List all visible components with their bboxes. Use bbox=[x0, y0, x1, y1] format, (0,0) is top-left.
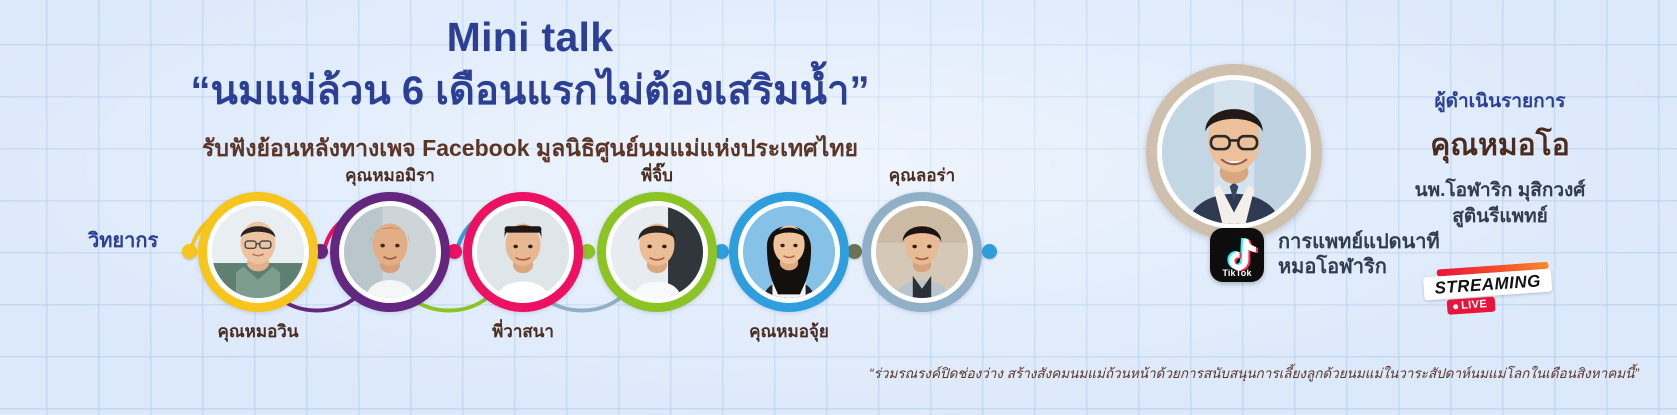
speaker-label: คุณลอร่า bbox=[807, 162, 1037, 189]
tiktok-icon[interactable]: TikTok bbox=[1210, 228, 1264, 282]
footer-note: “ร่วมรณรงค์ปิดช่องว่าง สร้างสังคมนมแม่ถ้… bbox=[836, 362, 1672, 384]
headline-block: Mini talk “นมแม่ล้วน 6 เดือนแรกไม่ต้องเส… bbox=[0, 14, 1060, 167]
speaker-card[interactable]: คุณลอร่า bbox=[862, 192, 982, 312]
topic-title: “นมแม่ล้วน 6 เดือนแรกไม่ต้องเสริมน้ำ” bbox=[0, 67, 1060, 115]
speaker-card[interactable]: คุณหมอวิน bbox=[198, 192, 318, 312]
host-avatar-ring bbox=[1146, 64, 1322, 240]
speaker-label: พี่วาสนา bbox=[408, 318, 638, 345]
channel-name-line-2: หมอโอฬาริก bbox=[1278, 255, 1440, 280]
speaker-card[interactable]: คุณหมอมิรา bbox=[330, 192, 450, 312]
host-name: คุณหมอโอ bbox=[1340, 122, 1660, 169]
connector-dot bbox=[847, 244, 862, 259]
host-avatar bbox=[1162, 80, 1306, 224]
host-info: ผู้ดำเนินรายการ คุณหมอโอ นพ.โอฬาริก มุสิ… bbox=[1340, 86, 1660, 229]
mini-talk-banner: Mini talk “นมแม่ล้วน 6 เดือนแรกไม่ต้องเส… bbox=[0, 0, 1677, 415]
speaker-label: คุณหมอวิน bbox=[143, 318, 373, 345]
channel-name-line-1: การแพทย์แปดนาที bbox=[1278, 230, 1440, 255]
speaker-label: คุณหมอจุ้ย bbox=[674, 318, 904, 345]
speaker-card[interactable]: คุณหมอจุ้ย bbox=[729, 192, 849, 312]
connector-dot bbox=[182, 244, 197, 259]
speaker-avatar bbox=[876, 206, 968, 298]
speaker-avatar bbox=[743, 206, 835, 298]
speaker-card[interactable]: พี่จิ๊บ bbox=[597, 192, 717, 312]
speaker-avatar bbox=[611, 206, 703, 298]
streaming-badge: STREAMING LIVE bbox=[1423, 262, 1554, 317]
speaker-label: คุณหมอมิรา bbox=[275, 162, 505, 189]
host-specialty: สูตินรีแพทย์ bbox=[1340, 204, 1660, 230]
page-title: Mini talk bbox=[0, 14, 1060, 61]
speaker-card[interactable]: พี่วาสนา bbox=[463, 192, 583, 312]
speaker-avatar bbox=[477, 206, 569, 298]
connector-dot bbox=[982, 244, 997, 259]
channel-row[interactable]: TikTok การแพทย์แปดนาที หมอโอฬาริก bbox=[1210, 228, 1440, 282]
live-label: LIVE bbox=[1461, 298, 1488, 312]
speaker-avatar bbox=[344, 206, 436, 298]
speaker-label: พี่จิ๊บ bbox=[542, 162, 772, 189]
host-role: ผู้ดำเนินรายการ bbox=[1340, 86, 1660, 116]
speaker-avatar bbox=[212, 206, 304, 298]
host-full-name: นพ.โอฬาริก มุสิกวงศ์ bbox=[1340, 178, 1660, 204]
channel-name: การแพทย์แปดนาที หมอโอฬาริก bbox=[1278, 230, 1440, 280]
live-dot-icon bbox=[1453, 304, 1458, 309]
tiktok-label: TikTok bbox=[1210, 268, 1264, 278]
speakers-section: วิทยากร bbox=[0, 178, 1050, 338]
